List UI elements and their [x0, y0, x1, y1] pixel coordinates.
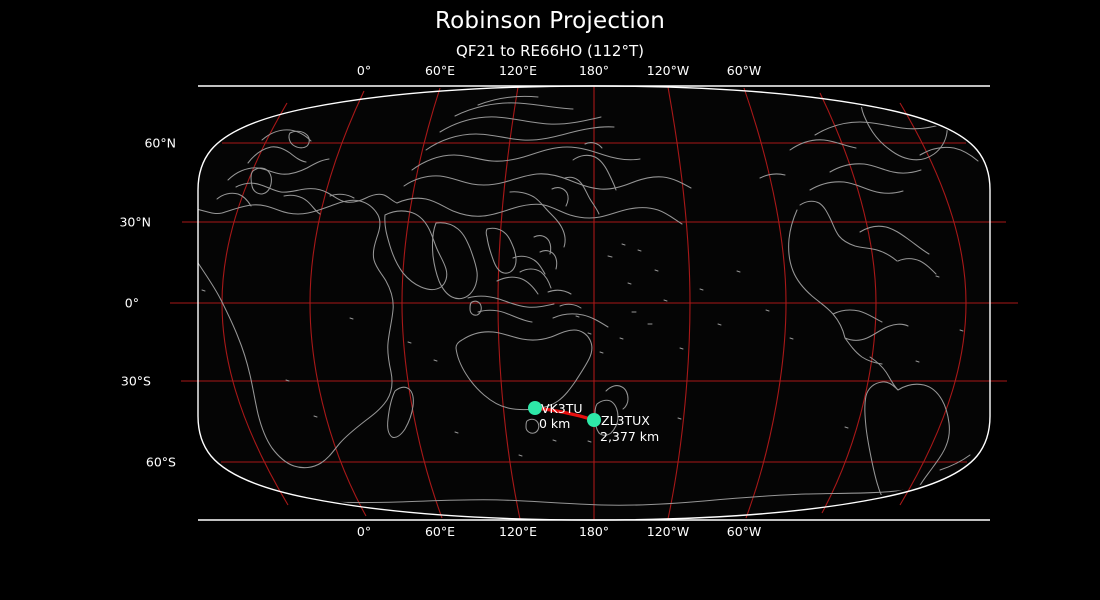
lon-tick-top-2: 120°E: [499, 63, 537, 78]
lon-tick-bottom-0: 0°: [357, 524, 371, 539]
lat-tick-0: 0°: [89, 296, 139, 311]
station-distance-vk3tu: 0 km: [539, 416, 570, 431]
lat-tick-30s: 30°S: [101, 374, 151, 389]
lat-tick-60s: 60°S: [126, 455, 176, 470]
lon-tick-top-4: 120°W: [647, 63, 689, 78]
station-marker-zl3tux[interactable]: [587, 413, 601, 427]
lat-tick-60n: 60°N: [126, 136, 176, 151]
station-label-zl3tux: ZL3TUX: [601, 413, 650, 428]
lon-tick-bottom-2: 120°E: [499, 524, 537, 539]
lon-tick-bottom-4: 120°W: [647, 524, 689, 539]
station-label-vk3tu: VK3TU: [541, 401, 583, 416]
map-figure: Robinson Projection QF21 to RE66HO (112°…: [0, 0, 1100, 600]
lon-tick-bottom-1: 60°E: [425, 524, 455, 539]
lon-tick-top-3: 180°: [579, 63, 609, 78]
lon-tick-top-5: 60°W: [727, 63, 762, 78]
station-marker-vk3tu[interactable]: [528, 401, 542, 415]
robinson-projection-canvas: [0, 0, 1100, 600]
lat-tick-30n: 30°N: [101, 215, 151, 230]
station-distance-zl3tux: 2,377 km: [600, 429, 659, 444]
lon-tick-bottom-5: 60°W: [727, 524, 762, 539]
lon-tick-top-1: 60°E: [425, 63, 455, 78]
lon-tick-bottom-3: 180°: [579, 524, 609, 539]
lon-tick-top-0: 0°: [357, 63, 371, 78]
